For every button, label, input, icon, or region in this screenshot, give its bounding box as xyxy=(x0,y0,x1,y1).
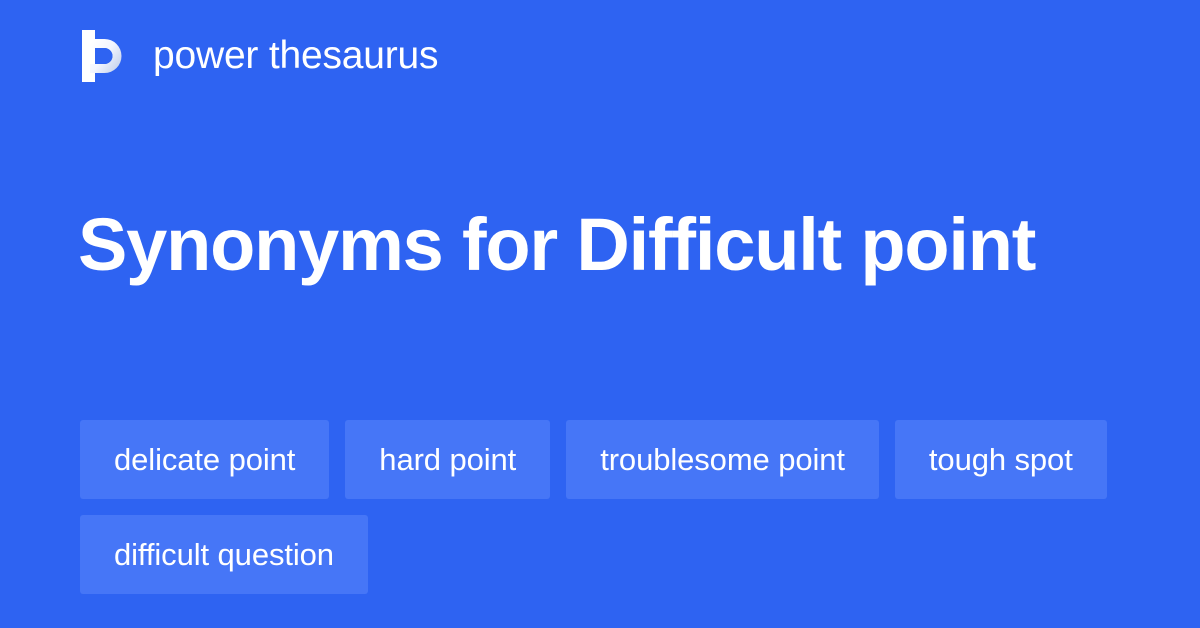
synonym-chip[interactable]: difficult question xyxy=(80,515,368,594)
synonym-chip[interactable]: tough spot xyxy=(895,420,1107,499)
power-thesaurus-b-logo-icon xyxy=(80,30,130,82)
og-card: power thesaurus Synonyms for Difficult p… xyxy=(0,0,1200,628)
synonym-chip[interactable]: hard point xyxy=(345,420,550,499)
synonym-chip[interactable]: troublesome point xyxy=(566,420,879,499)
synonym-chip[interactable]: delicate point xyxy=(80,420,329,499)
brand-lockup[interactable]: power thesaurus xyxy=(80,28,438,84)
page-title: Synonyms for Difficult point xyxy=(78,188,1088,301)
brand-name: power thesaurus xyxy=(153,33,438,79)
synonym-chip-list: delicate point hard point troublesome po… xyxy=(80,420,1120,594)
